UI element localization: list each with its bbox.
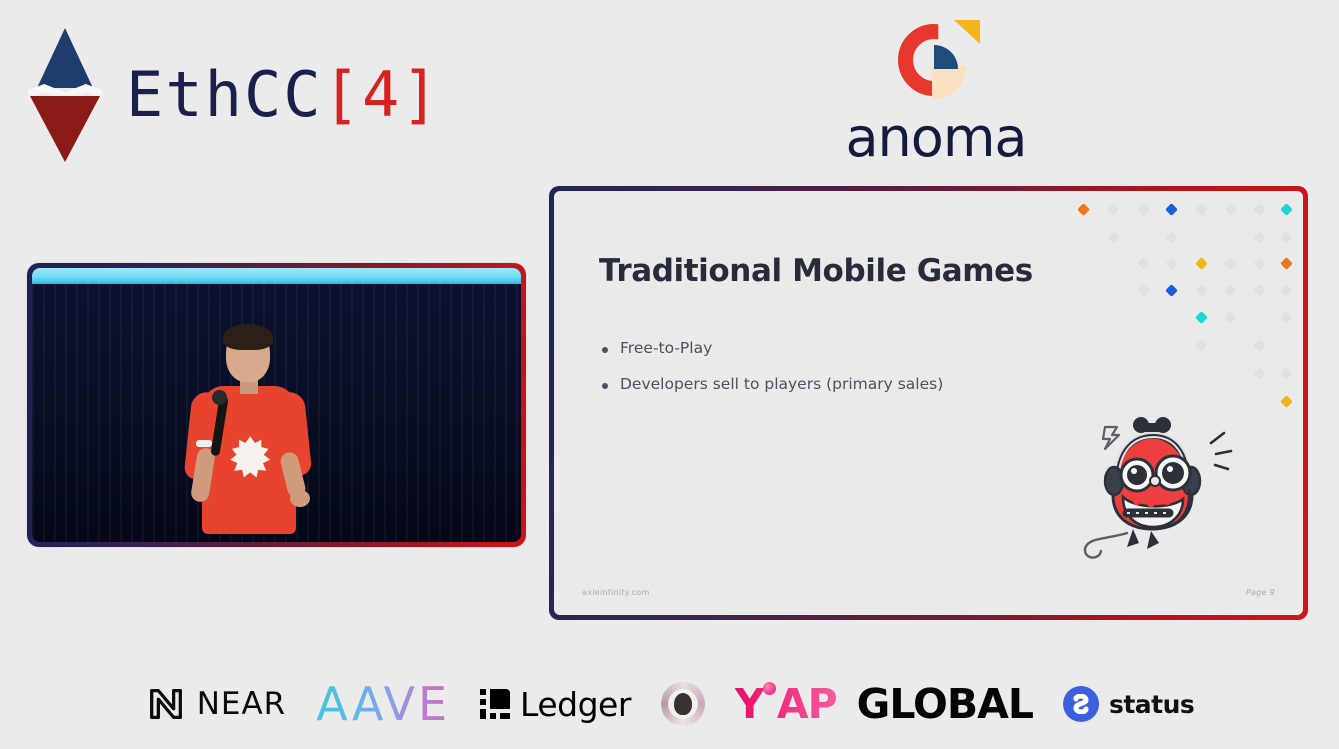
anoma-wordmark: anoma <box>836 106 1036 169</box>
decorative-dot <box>1253 284 1266 297</box>
status-mark-icon <box>1063 686 1099 722</box>
speaker-figure <box>172 328 322 542</box>
decorative-dot <box>1137 257 1150 270</box>
decorative-dot <box>1107 203 1120 216</box>
ethcc-bracket-close: ] <box>401 58 440 131</box>
decorative-dot <box>1253 203 1266 216</box>
status-wordmark: status <box>1109 690 1194 719</box>
decorative-dot <box>1280 203 1293 216</box>
bullet-dot-icon <box>602 383 608 389</box>
decorative-dot <box>1165 231 1178 244</box>
decorative-dot <box>1224 257 1237 270</box>
stage-light-band <box>32 268 521 284</box>
ethcc-bracket-open: [ <box>323 58 362 131</box>
speaker-camera-feed[interactable] <box>27 263 526 547</box>
status-logo[interactable]: status <box>1063 686 1194 722</box>
aave-logo[interactable]: AAVE <box>316 677 450 731</box>
decorative-dot <box>1224 311 1237 324</box>
decorative-dot <box>1195 284 1208 297</box>
sponsor-bar: NEAR AAVE Ledger Y AP GLOBAL status <box>0 677 1339 731</box>
near-mark-icon <box>145 683 187 725</box>
decorative-dot <box>1280 284 1293 297</box>
yap-global-logo[interactable]: Y AP GLOBAL <box>735 680 1033 728</box>
anoma-logo: anoma <box>836 14 1036 169</box>
ethcc-wordmark: EthCC[4] <box>126 58 441 131</box>
ethcc-number: 4 <box>362 58 401 131</box>
video-inner <box>32 268 521 542</box>
decorative-dot <box>1195 257 1208 270</box>
yap-globe-dot-icon <box>763 682 776 695</box>
avatar <box>661 682 705 726</box>
decorative-dot <box>1137 284 1150 297</box>
presentation-slide[interactable]: Traditional Mobile Games Free-to-Play De… <box>549 186 1308 620</box>
decorative-dot <box>1253 367 1266 380</box>
decorative-dot <box>1107 231 1120 244</box>
ledger-mark-icon <box>480 689 510 719</box>
bullet-dot-icon <box>602 347 608 353</box>
ethcc-text: EthCC <box>126 58 323 131</box>
decorative-dot <box>1224 203 1237 216</box>
portrait-logo[interactable] <box>661 682 705 726</box>
decorative-dot <box>1280 395 1293 408</box>
slide-footer-source: axieinfinity.com <box>582 588 650 597</box>
decorative-dot <box>1253 339 1266 352</box>
decorative-dot <box>1280 257 1293 270</box>
decorative-dot <box>1280 367 1293 380</box>
anoma-mark-icon <box>884 14 988 110</box>
decorative-dot <box>1165 257 1178 270</box>
decorative-dot <box>1280 311 1293 324</box>
decorative-dot <box>1224 284 1237 297</box>
decorative-dot <box>1137 203 1150 216</box>
ledger-wordmark: Ledger <box>520 685 631 724</box>
slide-canvas: Traditional Mobile Games Free-to-Play De… <box>554 191 1303 615</box>
decorative-dot <box>1195 203 1208 216</box>
ethcc-diamond-icon <box>26 24 104 164</box>
decorative-dot <box>1253 257 1266 270</box>
slide-bullet-list: Free-to-Play Developers sell to players … <box>602 339 943 411</box>
aave-wordmark: AAVE <box>316 677 450 731</box>
bullet-text: Free-to-Play <box>620 339 712 357</box>
decorative-dot <box>1077 203 1090 216</box>
list-item: Developers sell to players (primary sale… <box>602 375 943 393</box>
axie-mascot <box>1075 413 1245 563</box>
slide-page-number: Page 9 <box>1246 588 1275 597</box>
decorative-dot <box>1165 203 1178 216</box>
decorative-dot <box>1165 284 1178 297</box>
bullet-text: Developers sell to players (primary sale… <box>620 375 943 393</box>
ethcc-logo: EthCC[4] <box>26 24 441 164</box>
near-logo[interactable]: NEAR <box>145 683 287 725</box>
decorative-dot <box>1195 311 1208 324</box>
list-item: Free-to-Play <box>602 339 943 357</box>
decorative-dot <box>1280 231 1293 244</box>
ledger-logo[interactable]: Ledger <box>480 685 631 724</box>
decorative-dot <box>1195 339 1208 352</box>
yap-wordmark: Y AP <box>735 680 837 728</box>
slide-title: Traditional Mobile Games <box>599 253 1033 289</box>
near-wordmark: NEAR <box>197 686 287 722</box>
global-wordmark: GLOBAL <box>857 680 1033 728</box>
decorative-dot <box>1253 231 1266 244</box>
